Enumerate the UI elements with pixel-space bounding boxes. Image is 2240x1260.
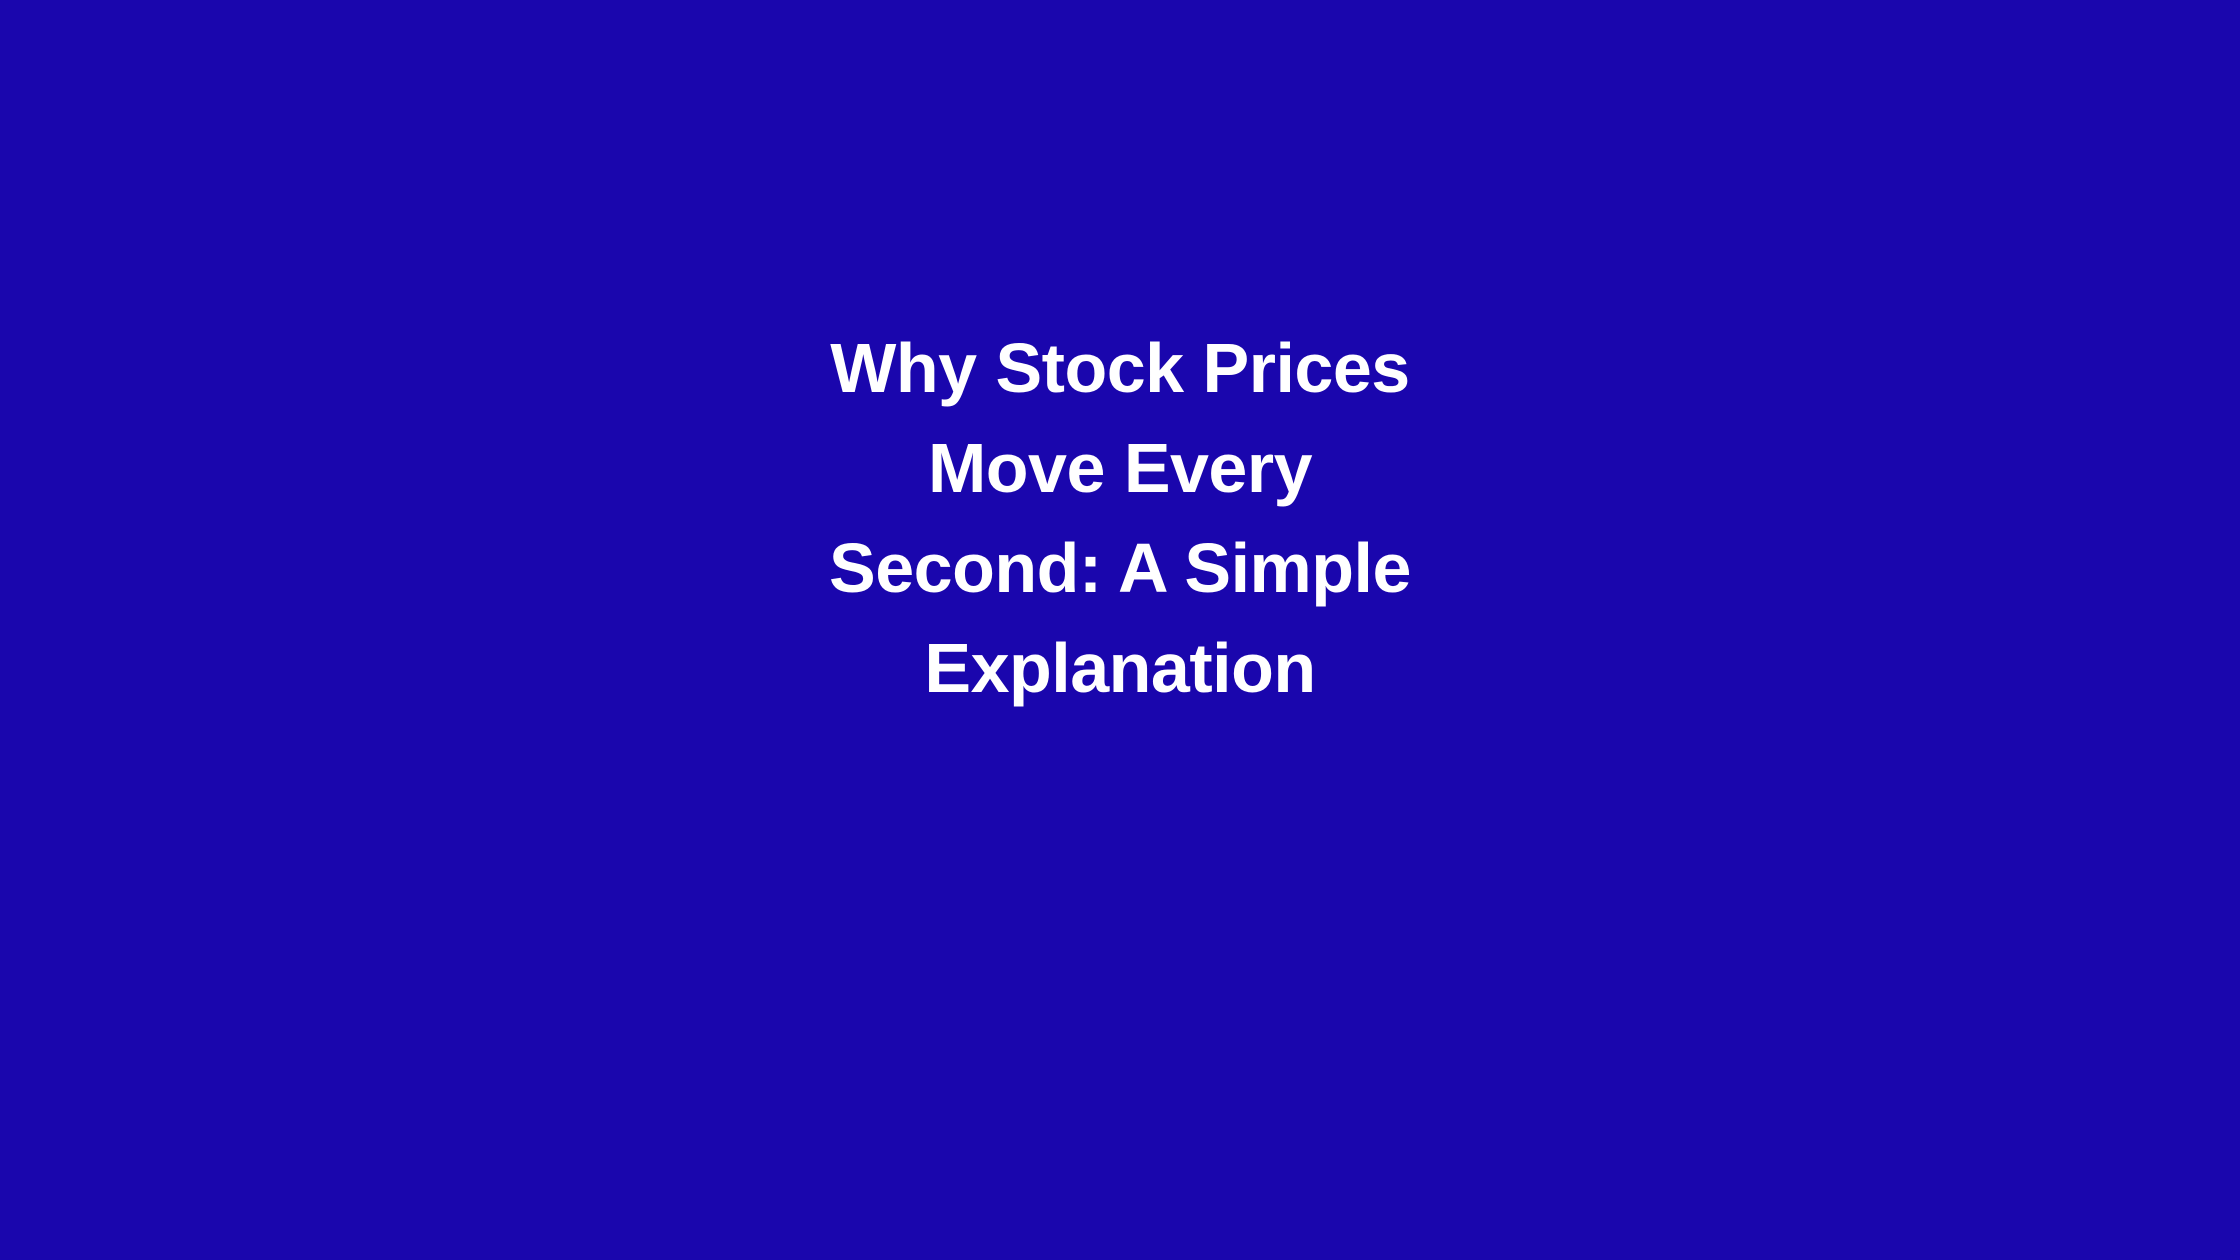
slide-canvas: Why Stock Prices Move Every Second: A Si… xyxy=(0,0,2240,1260)
page-title: Why Stock Prices Move Every Second: A Si… xyxy=(800,318,1440,718)
title-block: Why Stock Prices Move Every Second: A Si… xyxy=(0,0,2240,1260)
title-inner: Why Stock Prices Move Every Second: A Si… xyxy=(800,0,1440,718)
